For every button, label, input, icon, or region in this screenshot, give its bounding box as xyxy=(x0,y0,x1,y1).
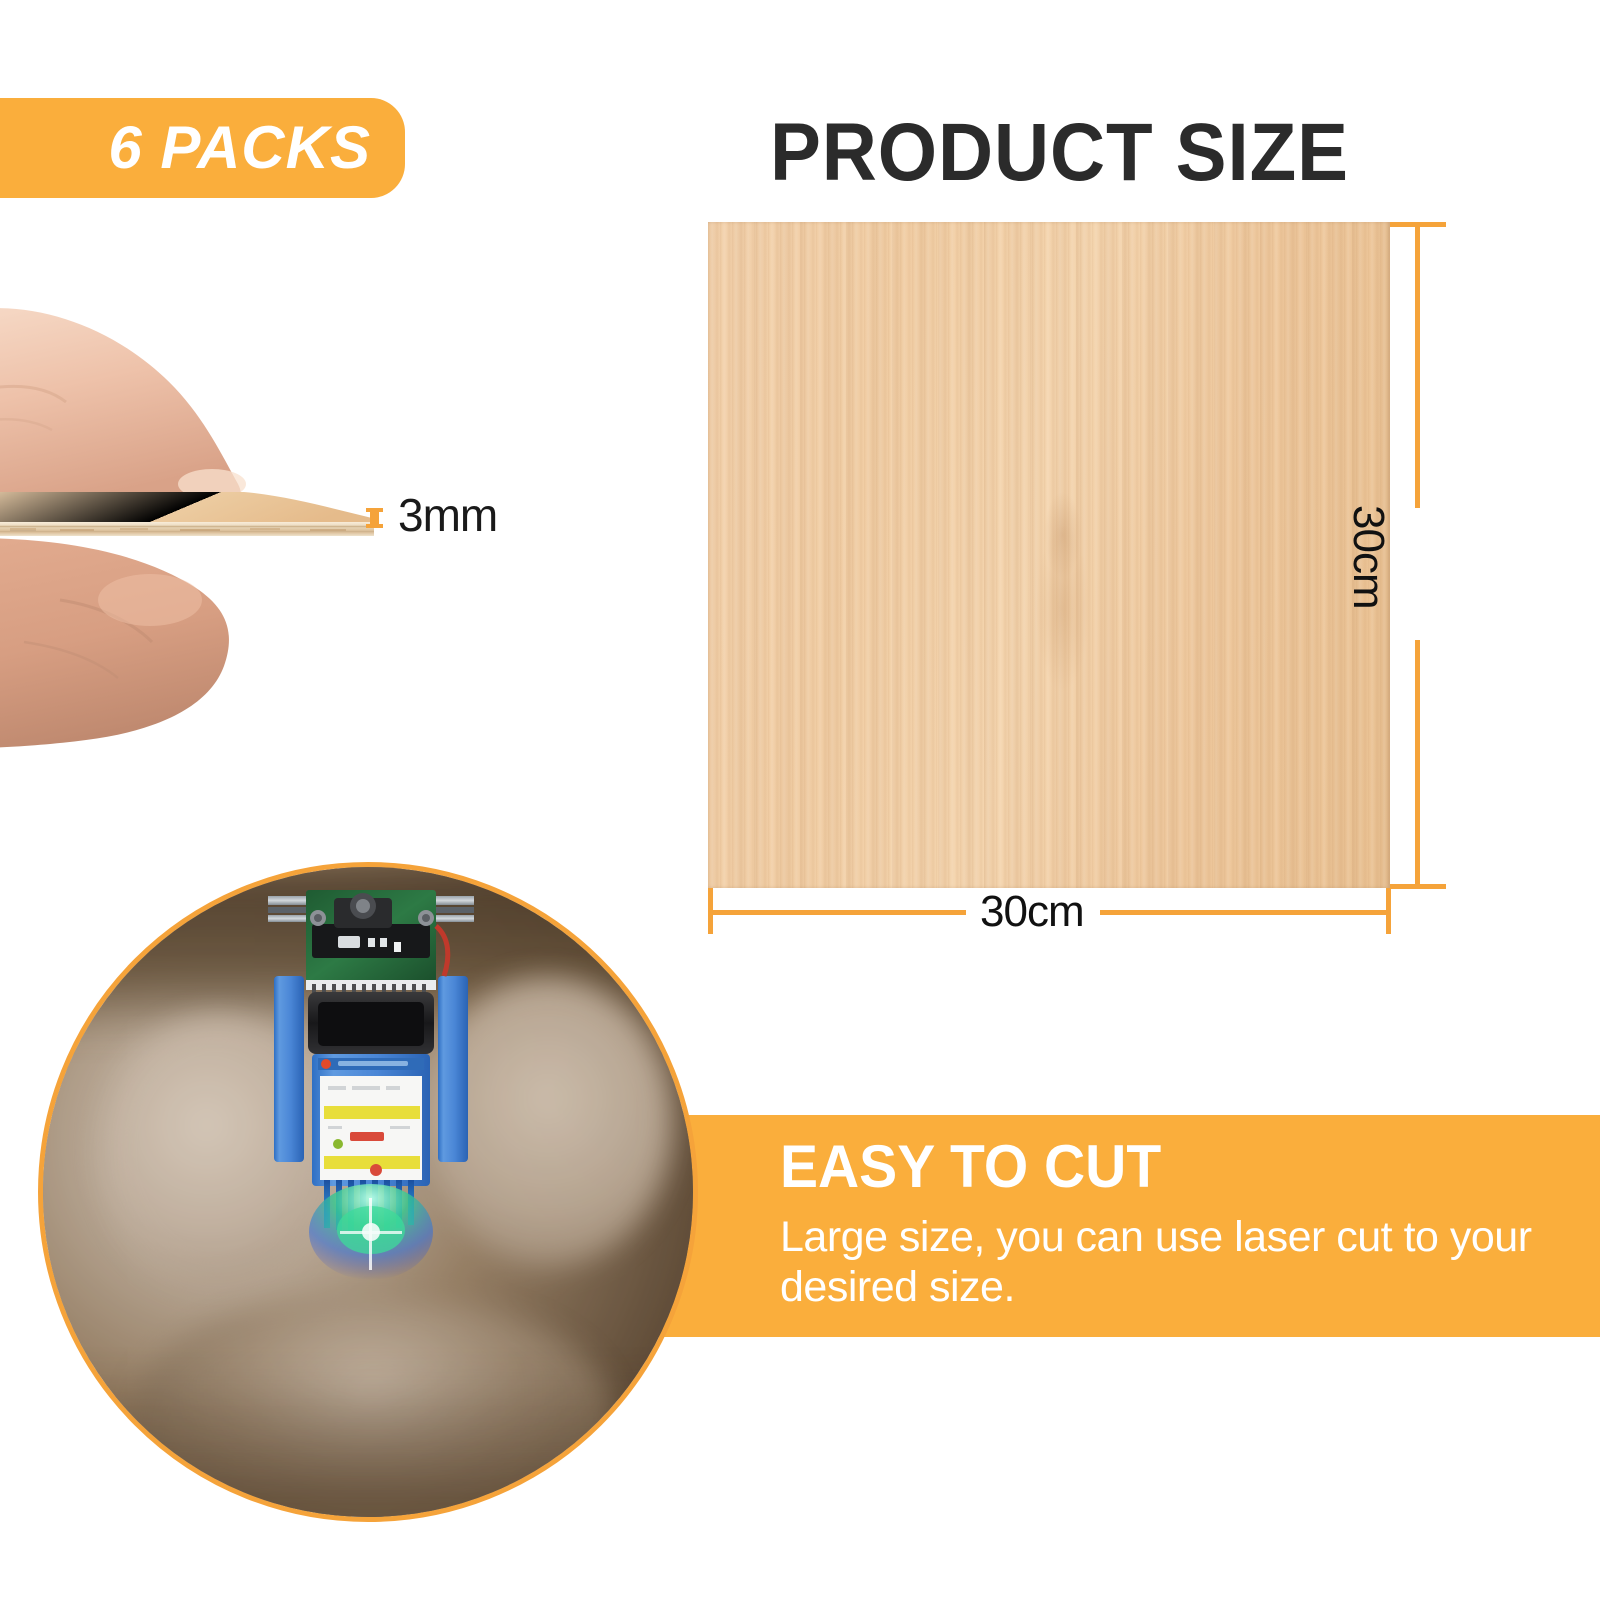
dimension-tick-top xyxy=(1390,222,1446,227)
packs-badge: 6 PACKS xyxy=(0,98,405,198)
dimension-line-vertical xyxy=(1415,222,1420,508)
dimension-line-vertical-lower xyxy=(1415,640,1420,888)
thickness-caliper-icon xyxy=(370,508,379,528)
feature-banner-title: EASY TO CUT xyxy=(780,1137,1521,1197)
feature-banner-text: EASY TO CUT Large size, you can use lase… xyxy=(780,1137,1560,1313)
dimension-line-horizontal-right xyxy=(1100,910,1390,915)
dimension-tick-right xyxy=(1386,888,1391,934)
dimension-label-height: 30cm xyxy=(1346,505,1390,609)
feature-banner-description: Large size, you can use laser cut to you… xyxy=(780,1213,1560,1313)
packs-badge-label: 6 PACKS xyxy=(108,118,371,178)
page-title: PRODUCT SIZE xyxy=(770,112,1349,194)
thickness-label: 3mm xyxy=(398,492,497,538)
dimension-tick-bottom xyxy=(1390,884,1446,889)
hand-holding-plywood-image xyxy=(0,270,420,770)
plywood-panel-image xyxy=(708,222,1390,888)
dimension-label-width: 30cm xyxy=(980,890,1084,934)
feature-banner: EASY TO CUT Large size, you can use lase… xyxy=(640,1115,1600,1337)
dimension-tick-left xyxy=(708,888,713,934)
dimension-line-horizontal-left xyxy=(708,910,966,915)
laser-engraver-module-icon xyxy=(268,880,474,1280)
